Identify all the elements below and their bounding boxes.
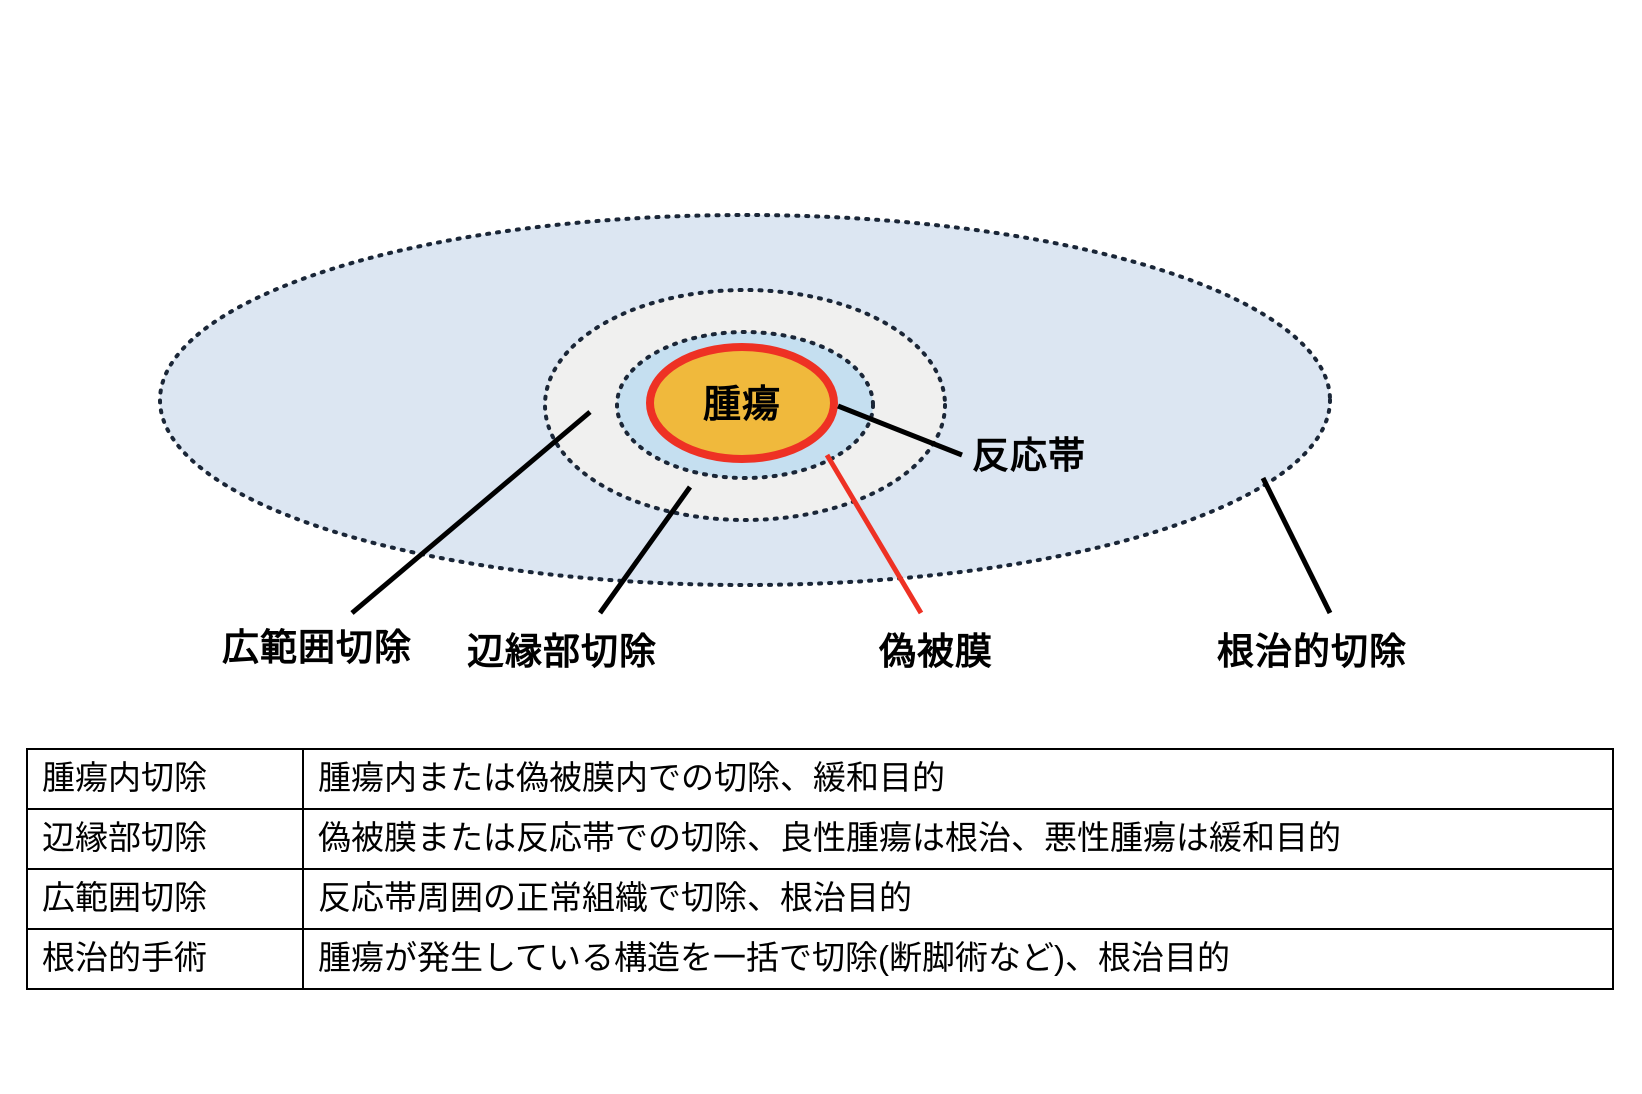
resection-table: 腫瘍内切除 腫瘍内または偽被膜内での切除、緩和目的 辺縁部切除 偽被膜または反応… [26, 748, 1614, 990]
table-cell-description: 腫瘍内または偽被膜内での切除、緩和目的 [303, 749, 1613, 809]
table-cell-term: 腫瘍内切除 [27, 749, 303, 809]
table-row: 腫瘍内切除 腫瘍内または偽被膜内での切除、緩和目的 [27, 749, 1613, 809]
resection-definitions: 腫瘍内切除 腫瘍内または偽被膜内での切除、緩和目的 辺縁部切除 偽被膜または反応… [26, 748, 1614, 990]
diagram-canvas: 腫瘍 [0, 0, 1642, 730]
table-cell-term: 広範囲切除 [27, 869, 303, 929]
table-cell-description: 偽被膜または反応帯での切除、良性腫瘍は根治、悪性腫瘍は緩和目的 [303, 809, 1613, 869]
callout-label-marginal-resection: 辺縁部切除 [467, 633, 657, 670]
table-row: 根治的手術 腫瘍が発生している構造を一括で切除(断脚術など)、根治目的 [27, 929, 1613, 989]
table-cell-description: 腫瘍が発生している構造を一括で切除(断脚術など)、根治目的 [303, 929, 1613, 989]
callout-label-pseudocapsule: 偽被膜 [879, 633, 993, 670]
table-cell-term: 辺縁部切除 [27, 809, 303, 869]
table-cell-description: 反応帯周囲の正常組織で切除、根治目的 [303, 869, 1613, 929]
resection-margin-diagram: 腫瘍 反応帯 広範囲切除 辺縁部切除 偽被膜 根治的切除 [0, 0, 1642, 730]
table-row: 広範囲切除 反応帯周囲の正常組織で切除、根治目的 [27, 869, 1613, 929]
tumor-label: 腫瘍 [703, 384, 781, 426]
callout-label-radical-resection: 根治的切除 [1217, 633, 1407, 670]
callout-label-reactive-zone: 反応帯 [972, 437, 1086, 474]
callout-label-wide-resection: 広範囲切除 [222, 629, 412, 666]
table-cell-term: 根治的手術 [27, 929, 303, 989]
leader-line-radical-resection [1263, 478, 1330, 613]
table-row: 辺縁部切除 偽被膜または反応帯での切除、良性腫瘍は根治、悪性腫瘍は緩和目的 [27, 809, 1613, 869]
